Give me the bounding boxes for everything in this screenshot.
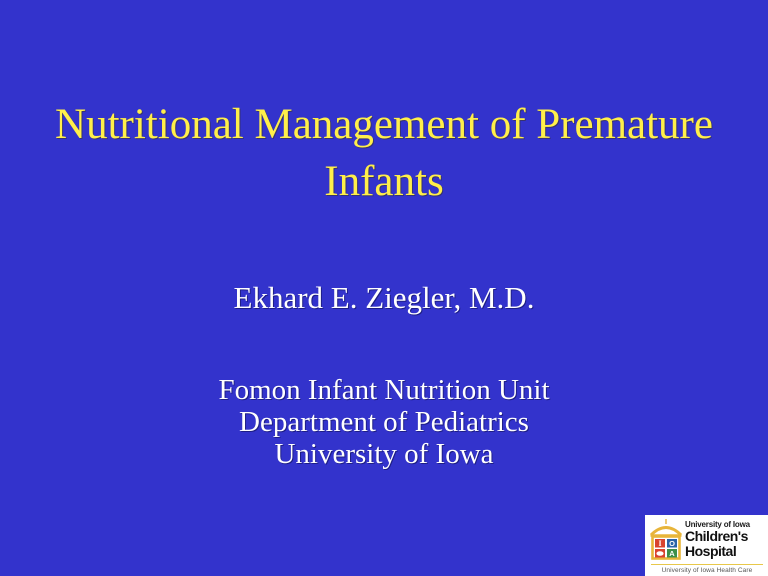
slide-title-line-2: Infants xyxy=(40,153,728,210)
childrens-hospital-logo: I O A University of Iowa Children's Hosp… xyxy=(645,515,768,576)
logo-tagline: University of Iowa Health Care xyxy=(651,564,763,574)
slide-title-line-1: Nutritional Management of Premature xyxy=(40,96,728,153)
slide-affiliation: Fomon Infant Nutrition Unit Department o… xyxy=(0,374,768,470)
author-name: Ekhard E. Ziegler, M.D. xyxy=(0,278,768,318)
logo-wordmark: University of Iowa Children's Hospital xyxy=(685,518,750,559)
childrens-hospital-house-icon: I O A xyxy=(649,518,683,560)
slide-author: Ekhard E. Ziegler, M.D. xyxy=(0,278,768,318)
svg-text:A: A xyxy=(669,549,675,558)
logo-hospital-line: Hospital xyxy=(685,544,750,559)
logo-main-row: I O A University of Iowa Children's Hosp… xyxy=(649,518,765,563)
presentation-slide: Nutritional Management of Premature Infa… xyxy=(0,0,768,576)
svg-text:I: I xyxy=(658,539,661,548)
logo-childrens-line: Children's xyxy=(685,529,750,544)
affiliation-line-3: University of Iowa xyxy=(0,438,768,470)
slide-title: Nutritional Management of Premature Infa… xyxy=(0,96,768,210)
affiliation-line-1: Fomon Infant Nutrition Unit xyxy=(0,374,768,406)
affiliation-line-2: Department of Pediatrics xyxy=(0,406,768,438)
svg-text:O: O xyxy=(669,539,675,548)
